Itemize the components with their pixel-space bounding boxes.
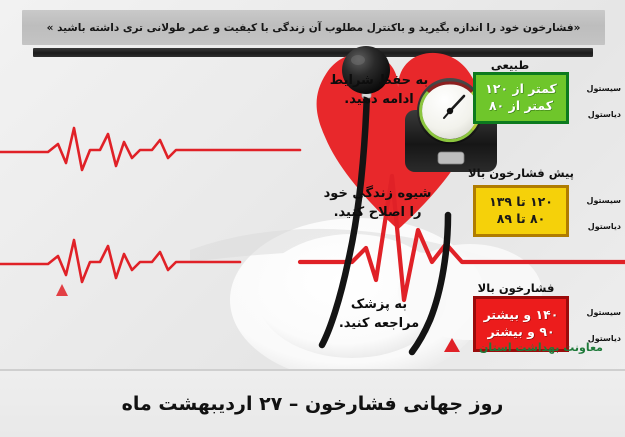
- systolic-value-high: ۱۴۰ و بیشتر: [484, 307, 559, 324]
- diastolic-label-pre: دیاستول: [588, 222, 621, 231]
- advice-normal: به حفظ شرایط ادامه دهید.: [319, 72, 439, 110]
- poster-root: «فشارخون خود را اندازه بگیرید و باکنترل …: [0, 0, 625, 437]
- systolic-value-normal: کمتر از ۱۲۰: [485, 81, 557, 98]
- systolic-label-high: سیستول: [587, 308, 622, 317]
- systolic-label-pre: سیستول: [587, 196, 622, 205]
- value-box-pre: ۱۲۰ تا ۱۳۹ ۸۰ تا ۸۹: [473, 185, 569, 237]
- category-title-pre: پیش فشارخون بالا: [441, 166, 601, 180]
- ecg-separator-1: [0, 128, 300, 170]
- diastolic-value-normal: کمتر از ۸۰: [489, 98, 553, 115]
- advice-high-line2: مراجعه کنید.: [339, 316, 419, 331]
- value-box-normal: کمتر از ۱۲۰ کمتر از ۸۰: [473, 72, 569, 124]
- ecg-separator-2: [0, 240, 240, 282]
- footer-title: روز جهانی فشارخون – ۲۷ اردیبهشت ماه: [122, 393, 504, 415]
- advice-pre: شیوه زندگی خود را اصلاح کنید.: [300, 185, 455, 223]
- diastolic-label-normal: دیاستول: [588, 110, 621, 119]
- advice-normal-line2: ادامه دهید.: [344, 92, 413, 107]
- category-title-high: فشارخون بالا: [451, 281, 581, 295]
- advice-high: به پزشک مراجعه کنید.: [319, 296, 439, 334]
- header-slogan: «فشارخون خود را اندازه بگیرید و باکنترل …: [47, 22, 581, 34]
- advice-pre-line1: شیوه زندگی خود: [324, 186, 432, 201]
- systolic-value-pre: ۱۲۰ تا ۱۳۹: [489, 194, 553, 211]
- org-credit: معاونت بهداشت استان: [479, 341, 603, 354]
- advice-high-line1: به پزشک: [351, 297, 407, 312]
- diastolic-value-pre: ۸۰ تا ۸۹: [497, 211, 546, 228]
- advice-normal-line1: به حفظ شرایط: [330, 73, 429, 88]
- advice-pre-line2: را اصلاح کنید.: [334, 205, 422, 220]
- header-black-bar: [33, 48, 593, 57]
- header-banner: «فشارخون خود را اندازه بگیرید و باکنترل …: [22, 10, 605, 45]
- category-title-normal: طبیعی: [450, 58, 570, 72]
- footer-banner: روز جهانی فشارخون – ۲۷ اردیبهشت ماه: [0, 371, 625, 437]
- systolic-label-normal: سیستول: [587, 84, 622, 93]
- diastolic-value-high: ۹۰ و بیشتر: [487, 324, 554, 341]
